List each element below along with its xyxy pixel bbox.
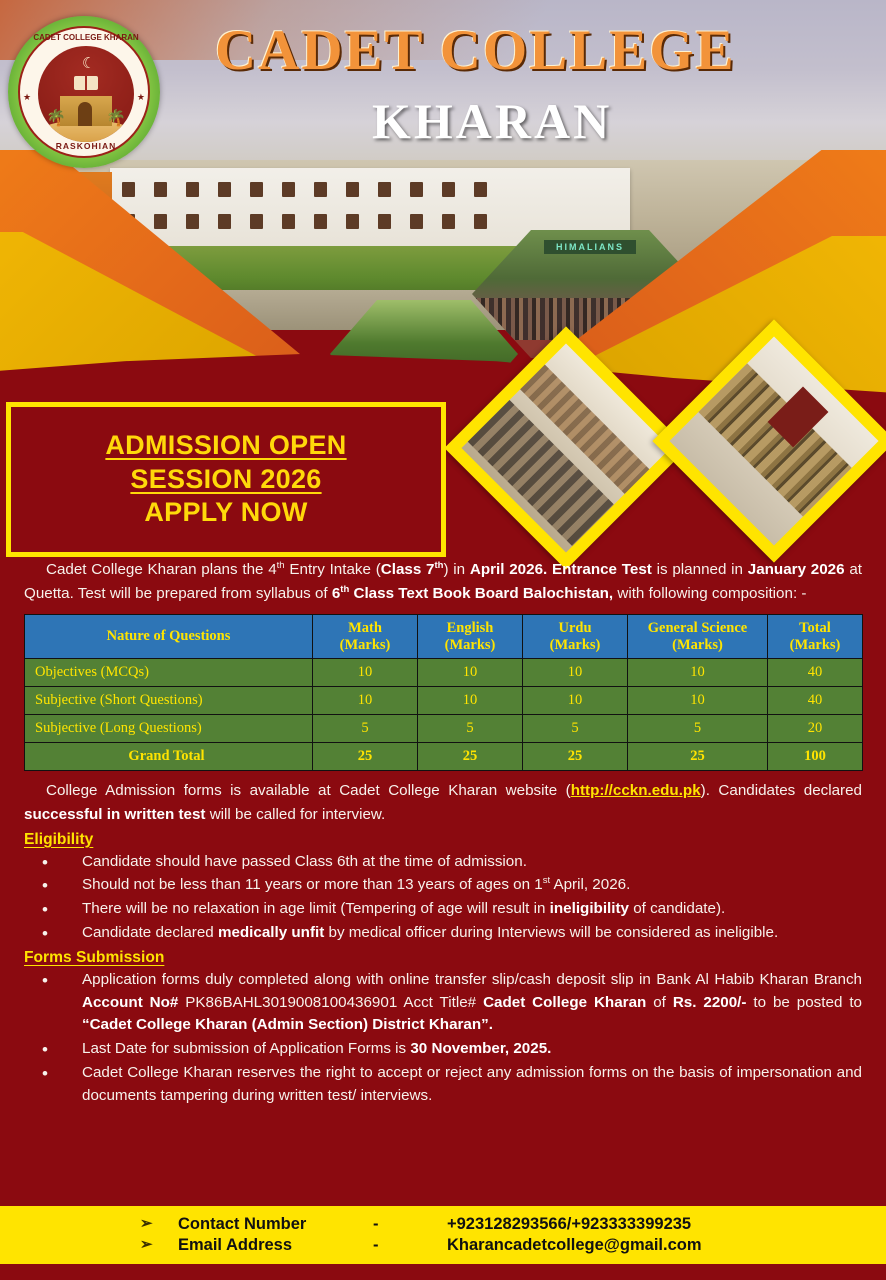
- palm-tree-icon: 🌴: [46, 108, 66, 128]
- building-window-row: [122, 214, 622, 229]
- forms-submission-list: Application forms duly completed along w…: [24, 969, 862, 1108]
- contact-number-label: Contact Number: [178, 1214, 373, 1235]
- window: [314, 182, 327, 197]
- window: [346, 214, 359, 229]
- cell-math: 5: [313, 715, 418, 743]
- intro-bold-entrance: Entrance Test: [547, 561, 652, 578]
- cell-english: 10: [418, 687, 523, 715]
- arrow-icon: ➢: [140, 1236, 178, 1255]
- separator-dash: -: [373, 1214, 447, 1235]
- window: [442, 182, 455, 197]
- intro-sup3: th: [340, 584, 349, 595]
- forms-item1-bold-address: “Cadet College Kharan (Admin Section) Di…: [82, 1016, 493, 1033]
- eligibility-item-3-bold: ineligibility: [550, 900, 629, 917]
- window: [282, 214, 295, 229]
- website-a: College Admission forms is available at …: [46, 782, 571, 799]
- cell-urdu: 10: [523, 659, 628, 687]
- star-icon: ★: [137, 92, 145, 103]
- contact-number-value[interactable]: +923128293566/+923333399235: [447, 1214, 691, 1235]
- row-label: Subjective (Long Questions): [25, 715, 313, 743]
- logo-emblem: ☾ 🌴 🌴: [38, 46, 134, 142]
- row-label: Objectives (MCQs): [25, 659, 313, 687]
- col-math-line2: (Marks): [340, 637, 391, 653]
- eligibility-item-4b: by medical officer during Interviews wil…: [324, 924, 778, 941]
- email-address-row: ➢ Email Address - Kharancadetcollege@gma…: [140, 1235, 840, 1256]
- window: [474, 214, 487, 229]
- cell-english: 25: [418, 743, 523, 771]
- table-row: Objectives (MCQs) 10 10 10 10 40: [25, 659, 863, 687]
- cell-english: 5: [418, 715, 523, 743]
- window: [378, 214, 391, 229]
- col-english-line1: English: [447, 620, 494, 636]
- cell-urdu: 5: [523, 715, 628, 743]
- intro-b: Entry Intake (: [285, 561, 381, 578]
- intro-f: with following composition: -: [613, 585, 806, 602]
- cell-math: 10: [313, 659, 418, 687]
- crescent-moon-icon: ☾: [82, 54, 95, 72]
- intro-d: is planned in: [652, 561, 748, 578]
- col-science-line2: (Marks): [672, 637, 723, 653]
- intro-bold-april: April 2026.: [470, 561, 547, 578]
- contact-rows: ➢ Contact Number - +923128293566/+923333…: [140, 1214, 840, 1255]
- forms-item2-deadline: 30 November, 2025.: [410, 1040, 551, 1057]
- window: [154, 214, 167, 229]
- intro-sup1: th: [277, 560, 285, 571]
- cell-english: 10: [418, 659, 523, 687]
- list-item: There will be no relaxation in age limit…: [24, 898, 862, 921]
- forms-item1-bold-title: Cadet College Kharan: [483, 994, 646, 1011]
- forms-item1-bold-amount: Rs. 2200/-: [673, 994, 747, 1011]
- table-header-row: Nature of Questions Math (Marks) English…: [25, 615, 863, 659]
- window: [218, 214, 231, 229]
- star-icon: ★: [23, 92, 31, 103]
- eligibility-list: Candidate should have passed Class 6th a…: [24, 851, 862, 945]
- forms-item1-d: to be posted to: [746, 994, 862, 1011]
- marks-distribution-table: Nature of Questions Math (Marks) English…: [24, 614, 863, 771]
- poster-body: Cadet College Kharan plans the 4th Entry…: [0, 558, 886, 1110]
- window: [314, 214, 327, 229]
- forms-item2-a: Last Date for submission of Application …: [82, 1040, 410, 1057]
- table-row: Subjective (Long Questions) 5 5 5 5 20: [25, 715, 863, 743]
- window: [250, 182, 263, 197]
- fort-icon: [60, 96, 112, 126]
- college-logo: CADET COLLEGE KHARAN RASKOHIAN ★ ★ ☾ 🌴 🌴: [8, 16, 160, 168]
- admission-poster: HIMALIANS CADET COLLEGE KHARAN CADET COL…: [0, 0, 886, 1280]
- col-urdu: Urdu (Marks): [523, 615, 628, 659]
- cell-science: 10: [628, 687, 768, 715]
- window: [346, 182, 359, 197]
- intro-c: ) in: [443, 561, 469, 578]
- window: [154, 182, 167, 197]
- cell-math: 10: [313, 687, 418, 715]
- table-row-grand-total: Grand Total 25 25 25 25 100: [25, 743, 863, 771]
- cell-science: 25: [628, 743, 768, 771]
- contact-number-row: ➢ Contact Number - +923128293566/+923333…: [140, 1214, 840, 1235]
- eligibility-item-2-sup: st: [543, 875, 550, 886]
- list-item: Cadet College Kharan reserves the right …: [24, 1062, 862, 1108]
- col-total-line1: Total: [799, 620, 831, 636]
- window: [122, 182, 135, 197]
- table-row: Subjective (Short Questions) 10 10 10 10…: [25, 687, 863, 715]
- apply-now-text: APPLY NOW: [144, 498, 307, 528]
- eligibility-item-1: Candidate should have passed Class 6th a…: [82, 853, 527, 870]
- window: [282, 182, 295, 197]
- cell-total: 20: [768, 715, 863, 743]
- forms-submission-heading: Forms Submission: [24, 949, 862, 967]
- book-icon: [74, 76, 98, 90]
- col-total-line2: (Marks): [790, 637, 841, 653]
- window: [378, 182, 391, 197]
- forms-item1-bold-account: Account No#: [82, 994, 178, 1011]
- window: [442, 214, 455, 229]
- col-general-science: General Science (Marks): [628, 615, 768, 659]
- cell-science: 5: [628, 715, 768, 743]
- himalians-banner: HIMALIANS: [544, 240, 636, 254]
- forms-item1-a: Application forms duly completed along w…: [82, 971, 862, 988]
- row-label: Subjective (Short Questions): [25, 687, 313, 715]
- logo-inner-ring: CADET COLLEGE KHARAN RASKOHIAN ★ ★ ☾ 🌴 🌴: [18, 26, 150, 158]
- page-subtitle: KHARAN: [372, 92, 886, 150]
- arrow-icon: ➢: [140, 1215, 178, 1234]
- intro-paragraph: Cadet College Kharan plans the 4th Entry…: [24, 558, 862, 605]
- eligibility-item-2b: April, 2026.: [550, 876, 630, 893]
- admission-banner: ADMISSION OPEN SESSION 2026 APPLY NOW: [6, 402, 446, 557]
- logo-bottom-text: RASKOHIAN: [20, 141, 152, 151]
- eligibility-item-4-bold: medically unfit: [218, 924, 324, 941]
- footer-bottom-bar: [0, 1266, 886, 1280]
- list-item: Candidate declared medically unfit by me…: [24, 922, 862, 945]
- col-math-line1: Math: [348, 620, 382, 636]
- intro-a: Cadet College Kharan plans the 4: [46, 561, 277, 578]
- website-link[interactable]: http://cckn.edu.pk: [571, 782, 701, 799]
- page-title: CADET COLLEGE: [215, 18, 875, 83]
- logo-top-text: CADET COLLEGE KHARAN: [20, 33, 152, 42]
- cell-math: 25: [313, 743, 418, 771]
- intro-bold-class7: Class 7: [381, 561, 435, 578]
- eligibility-item-3a: There will be no relaxation in age limit…: [82, 900, 550, 917]
- cell-urdu: 10: [523, 687, 628, 715]
- session-year-text: SESSION 2026: [130, 465, 321, 495]
- col-math: Math (Marks): [313, 615, 418, 659]
- email-address-value[interactable]: Kharancadetcollege@gmail.com: [447, 1235, 702, 1256]
- palm-tree-icon: 🌴: [106, 108, 126, 128]
- col-urdu-line2: (Marks): [550, 637, 601, 653]
- forms-item1-account-number: PK86BAHL3019008100436901 Acct Title#: [178, 994, 483, 1011]
- eligibility-heading: Eligibility: [24, 831, 862, 849]
- list-item: Last Date for submission of Application …: [24, 1038, 862, 1061]
- col-urdu-line1: Urdu: [558, 620, 591, 636]
- window: [474, 182, 487, 197]
- list-item: Candidate should have passed Class 6th a…: [24, 851, 862, 874]
- cell-urdu: 25: [523, 743, 628, 771]
- intro-bold-board: Class Text Book Board Balochistan,: [349, 585, 613, 602]
- window: [410, 214, 423, 229]
- contact-footer: ➢ Contact Number - +923128293566/+923333…: [0, 1204, 886, 1266]
- col-total: Total (Marks): [768, 615, 863, 659]
- email-address-label: Email Address: [178, 1235, 373, 1256]
- col-english-line2: (Marks): [445, 637, 496, 653]
- window: [186, 214, 199, 229]
- website-b: ). Candidates declared: [701, 782, 862, 799]
- cell-total: 40: [768, 659, 863, 687]
- building-window-row: [122, 182, 622, 197]
- eligibility-item-3b: of candidate).: [629, 900, 725, 917]
- window: [250, 214, 263, 229]
- window: [218, 182, 231, 197]
- list-item: Application forms duly completed along w…: [24, 969, 862, 1037]
- forms-item3: Cadet College Kharan reserves the right …: [82, 1064, 862, 1104]
- col-nature-of-questions: Nature of Questions: [25, 615, 313, 659]
- website-paragraph: College Admission forms is available at …: [24, 779, 862, 826]
- cell-science: 10: [628, 659, 768, 687]
- admission-open-text: ADMISSION OPEN: [105, 431, 346, 461]
- eligibility-item-4a: Candidate declared: [82, 924, 218, 941]
- forms-item1-c: of: [646, 994, 673, 1011]
- website-c: will be called for interview.: [205, 806, 385, 823]
- separator-dash: -: [373, 1235, 447, 1256]
- row-label-grand-total: Grand Total: [25, 743, 313, 771]
- col-science-line1: General Science: [648, 620, 747, 636]
- website-bold: successful in written test: [24, 806, 205, 823]
- list-item: Should not be less than 11 years or more…: [24, 874, 862, 897]
- cell-total: 100: [768, 743, 863, 771]
- intro-bold-january: January 2026: [748, 561, 845, 578]
- window: [410, 182, 423, 197]
- window: [186, 182, 199, 197]
- col-english: English (Marks): [418, 615, 523, 659]
- eligibility-item-2a: Should not be less than 11 years or more…: [82, 876, 543, 893]
- cell-total: 40: [768, 687, 863, 715]
